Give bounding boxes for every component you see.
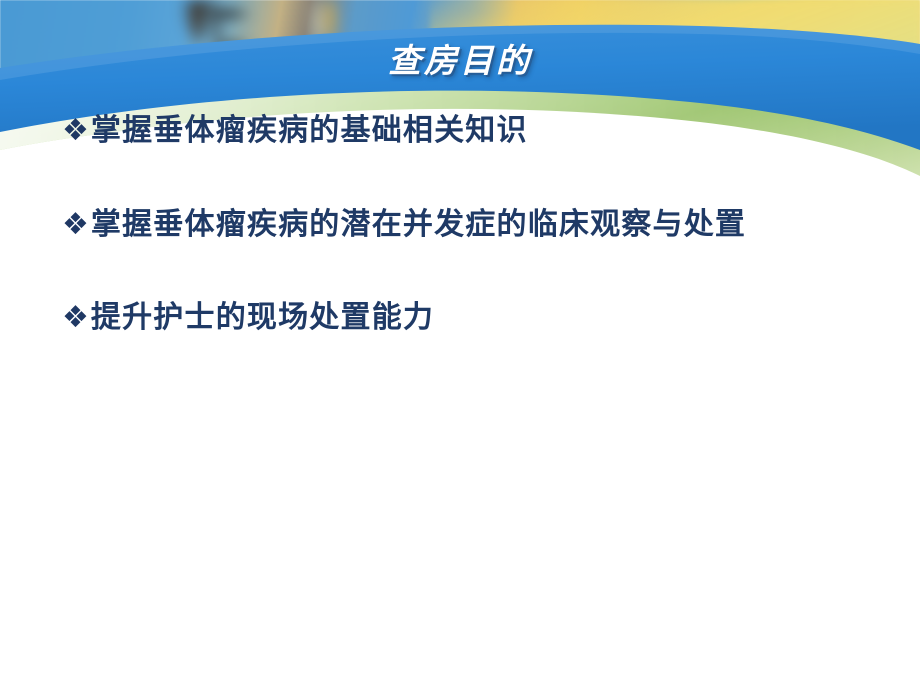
list-item: ❖ 掌握垂体瘤疾病的基础相关知识 bbox=[62, 112, 907, 150]
diamond-bullet-icon: ❖ bbox=[62, 206, 89, 244]
list-item: ❖ 提升护士的现场处置能力 bbox=[62, 299, 907, 337]
diamond-bullet-icon: ❖ bbox=[62, 112, 89, 150]
bullet-list: ❖ 掌握垂体瘤疾病的基础相关知识 ❖ 掌握垂体瘤疾病的潜在并发症的临床观察与处置… bbox=[62, 112, 907, 393]
list-item: ❖ 掌握垂体瘤疾病的潜在并发症的临床观察与处置 bbox=[62, 206, 907, 244]
list-item-text: 掌握垂体瘤疾病的基础相关知识 bbox=[91, 112, 907, 150]
diamond-bullet-icon: ❖ bbox=[62, 299, 89, 337]
list-item-text: 提升护士的现场处置能力 bbox=[91, 299, 907, 337]
slide-title: 查房目的 bbox=[0, 34, 920, 82]
list-item-text: 掌握垂体瘤疾病的潜在并发症的临床观察与处置 bbox=[91, 206, 907, 244]
slide: 查房目的 ❖ 掌握垂体瘤疾病的基础相关知识 ❖ 掌握垂体瘤疾病的潜在并发症的临床… bbox=[0, 0, 920, 690]
